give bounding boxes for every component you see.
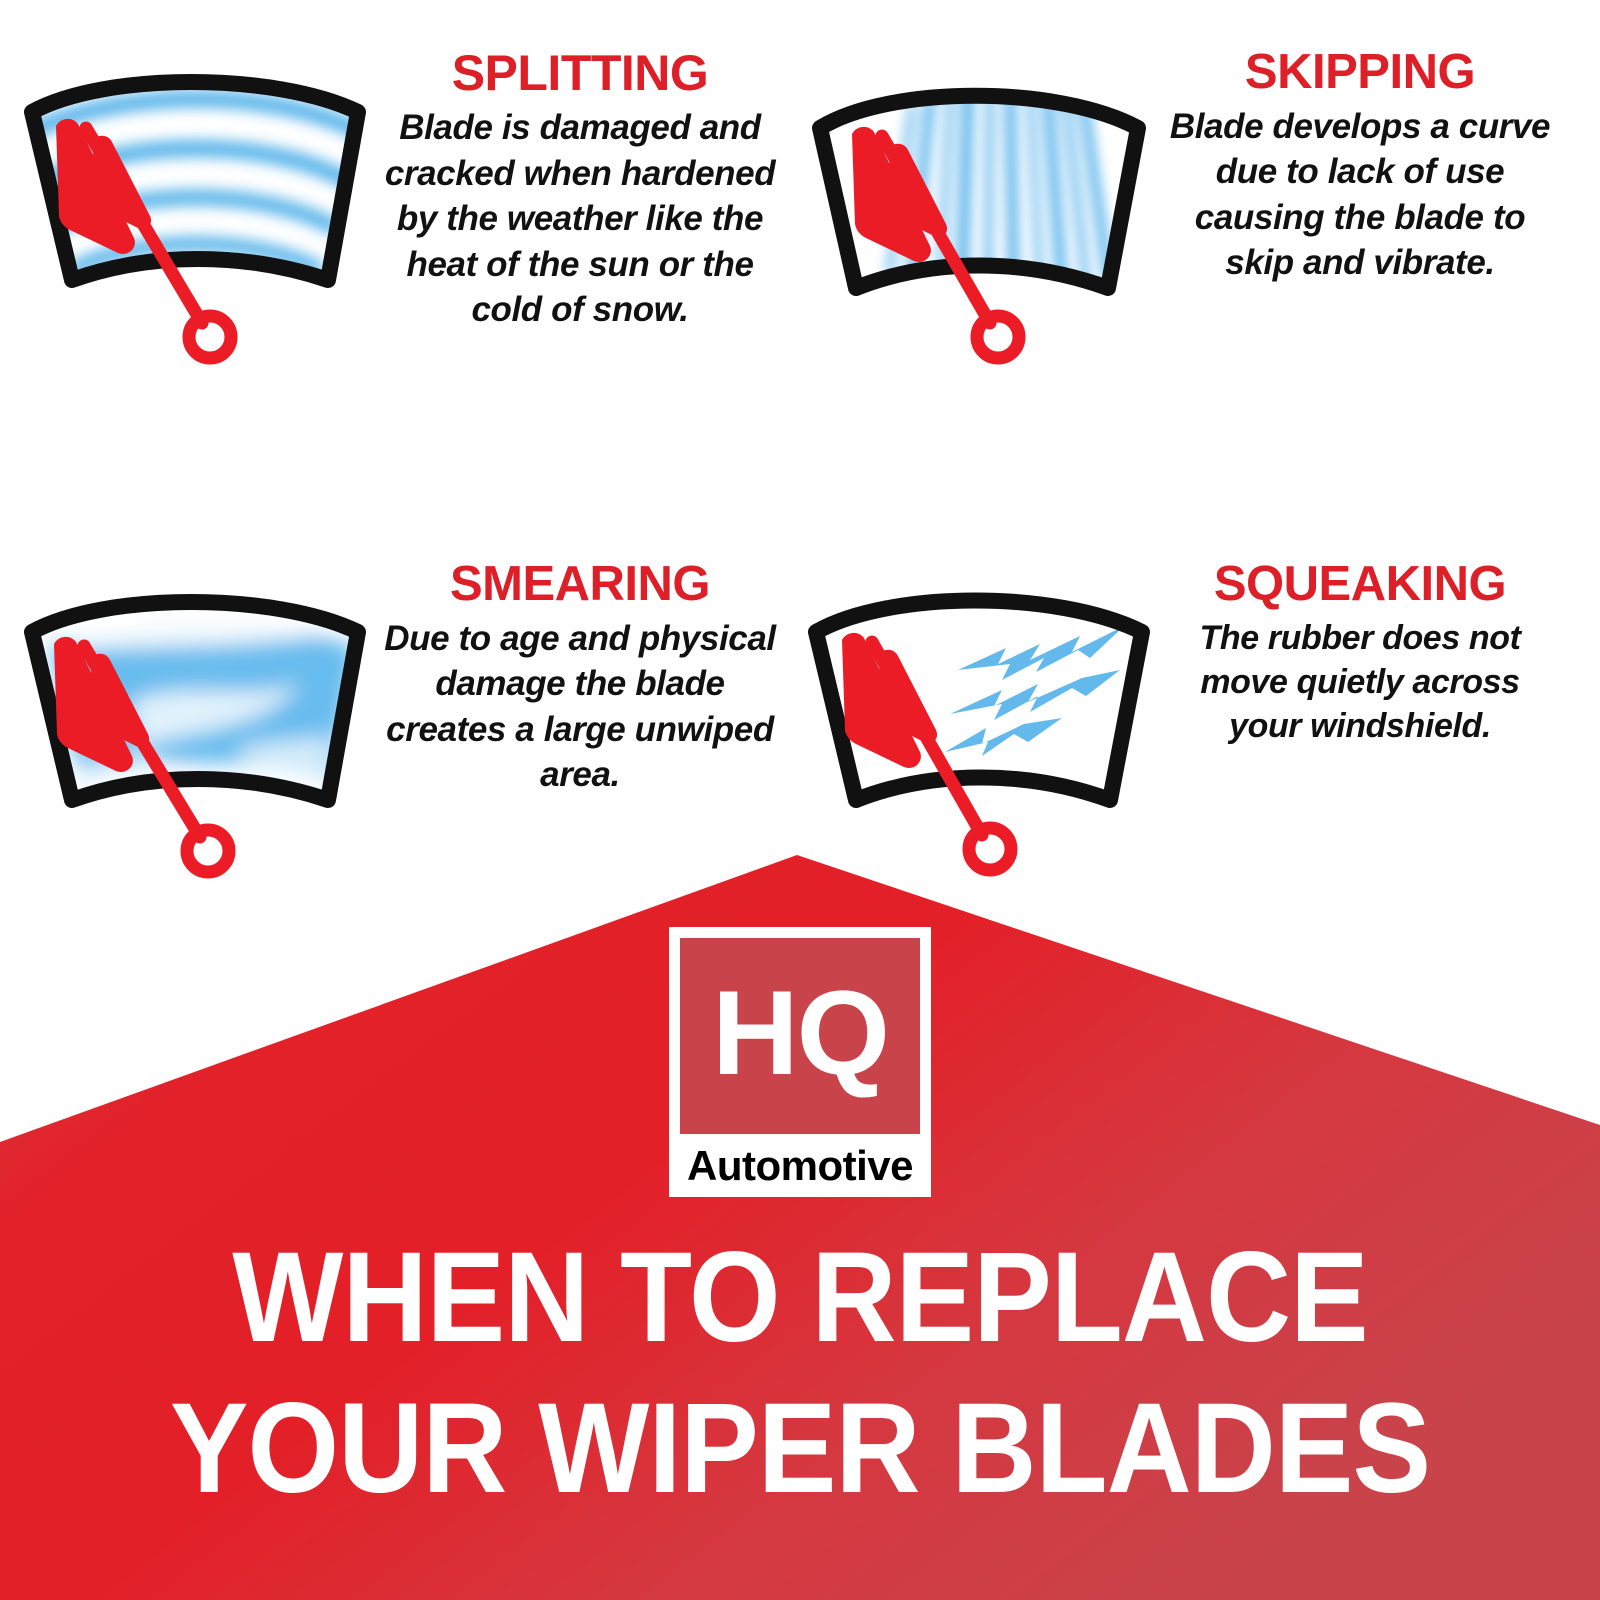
symptom-description: Blade is damaged and cracked when harden… [380,105,780,333]
windshield-wiper-streaks-icon [790,40,1160,370]
symptom-title: SKIPPING [1160,48,1560,98]
page-title: WHEN TO REPLACE YOUR WIPER BLADES [0,1222,1600,1524]
headline-line-2: YOUR WIPER BLADES [64,1373,1536,1524]
symptom-description: Due to age and physical damage the blade… [380,616,780,798]
logo-subtitle-text: Automotive [687,1142,913,1190]
hq-automotive-logo: HQ Automotive [669,927,931,1197]
headline-line-1: WHEN TO REPLACE [64,1222,1536,1373]
symptom-title: SQUEAKING [1160,560,1560,610]
infographic-canvas: SPLITTING Blade is damaged and cracked w… [0,0,1600,1600]
symptom-panel-splitting: SPLITTING Blade is damaged and cracked w… [10,40,780,370]
symptom-title: SPLITTING [380,48,780,99]
symptom-text-squeaking: SQUEAKING The rubber does not move quiet… [1160,552,1560,749]
symptom-text-splitting: SPLITTING Blade is damaged and cracked w… [380,40,780,333]
logo-subtitle-box: Automotive [680,1134,920,1197]
logo-mark-box: HQ [680,938,920,1134]
logo-mark-text: HQ [712,973,888,1093]
symptom-title: SMEARING [380,560,780,610]
symptom-text-smearing: SMEARING Due to age and physical damage … [380,552,780,798]
symptom-panel-skipping: SKIPPING Blade develops a curve due to l… [790,40,1560,370]
symptom-text-skipping: SKIPPING Blade develops a curve due to l… [1160,40,1560,286]
windshield-wiper-arcs-icon [10,40,380,370]
symptom-description: The rubber does not move quietly across … [1160,616,1560,749]
symptom-description: Blade develops a curve due to lack of us… [1160,104,1560,286]
